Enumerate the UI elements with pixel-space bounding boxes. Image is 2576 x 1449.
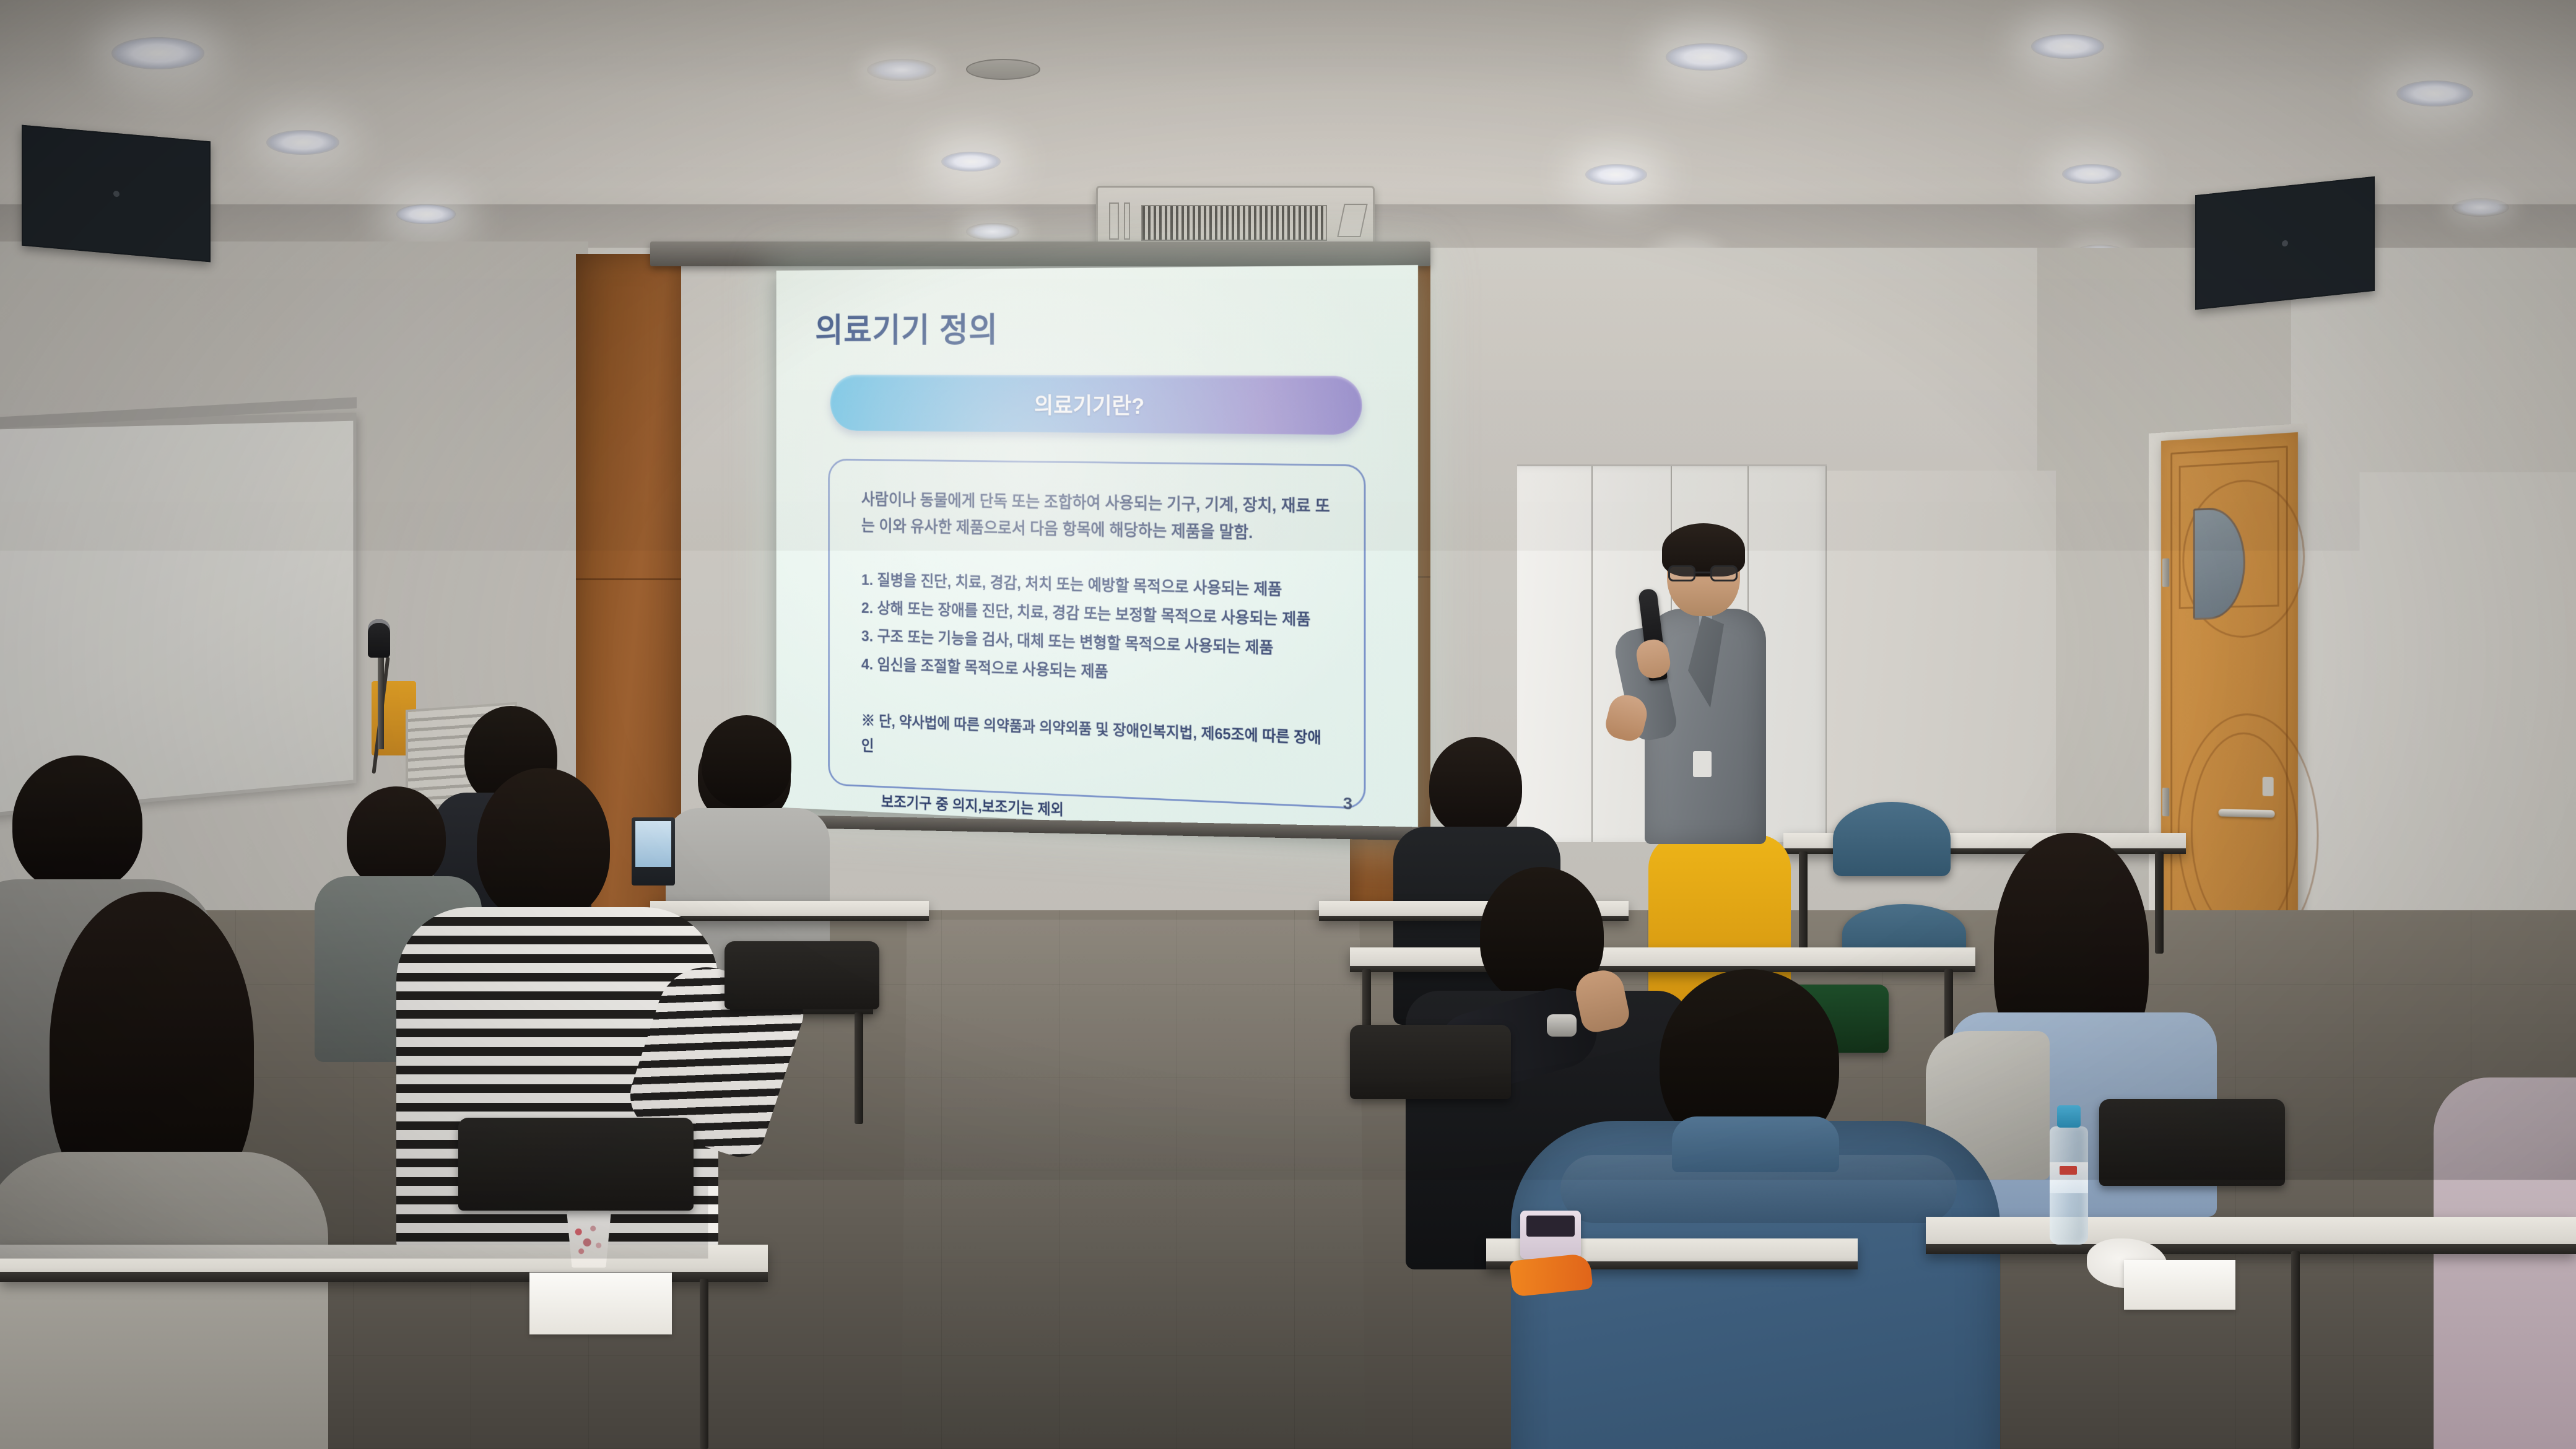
- ceiling-light: [396, 204, 456, 224]
- bottle-cap[interactable]: [2057, 1105, 2081, 1128]
- wall-speaker-right: [2195, 176, 2375, 310]
- phone-screen: [1526, 1216, 1575, 1237]
- presenter: [1616, 529, 1777, 839]
- chair[interactable]: [724, 941, 879, 1009]
- projection-screen: 의료기기 정의 의료기기란? 사람이나 동물에게 단독 또는 조합하여 사용되는…: [777, 265, 1418, 838]
- whiteboard: [0, 412, 357, 817]
- ceiling-light: [266, 130, 339, 155]
- ceiling-light: [2062, 164, 2121, 184]
- slide-title: 의료기기 정의: [815, 301, 1380, 351]
- slide-page-number: 3: [1343, 794, 1352, 814]
- laptop[interactable]: [632, 817, 675, 885]
- speaker-driver: [2282, 240, 2288, 246]
- table: [1926, 1217, 2576, 1254]
- table-leg: [1799, 851, 1808, 960]
- table-edge: [1350, 966, 1975, 972]
- ceiling-light: [2031, 34, 2104, 59]
- ceiling-vent-round: [966, 59, 1040, 80]
- microphone-icon: [368, 619, 390, 658]
- water-bottle[interactable]: [2050, 1105, 2088, 1245]
- screen-valance: [650, 241, 1430, 266]
- head: [347, 786, 446, 889]
- slide-list: 1. 질병을 진단, 치료, 경감, 처치 또는 예방할 목적으로 사용되는 제…: [861, 565, 1333, 694]
- ac-slot: [1109, 202, 1119, 240]
- bottle-logo-icon: [2060, 1166, 2077, 1175]
- flip-phone[interactable]: [1520, 1211, 1581, 1259]
- glasses-bridge: [1695, 572, 1710, 573]
- chair[interactable]: [1833, 802, 1951, 876]
- presenter-name-badge: [1693, 751, 1712, 777]
- slide-body-box: 사람이나 동물에게 단독 또는 조합하여 사용되는 기구, 기계, 장치, 재료…: [828, 459, 1365, 810]
- glasses-lens: [1710, 565, 1738, 581]
- door-handle[interactable]: [2219, 809, 2275, 817]
- slide-paragraph: 사람이나 동물에게 단독 또는 조합하여 사용되는 기구, 기계, 장치, 재료…: [861, 487, 1333, 548]
- glasses-icon: [1668, 565, 1738, 581]
- laptop-screen: [635, 821, 671, 867]
- door-lock-icon[interactable]: [2263, 777, 2274, 796]
- head: [1429, 737, 1522, 836]
- slide-banner-label: 의료기기란?: [1034, 388, 1144, 420]
- ceiling-light: [966, 223, 1019, 240]
- cup-pattern: [572, 1219, 606, 1261]
- wall-speaker-left: [22, 125, 211, 263]
- chair[interactable]: [1350, 1025, 1511, 1099]
- bottle-label: [2050, 1162, 2088, 1193]
- ceiling-light: [1585, 164, 1647, 185]
- table-leg: [2291, 1251, 2300, 1449]
- door-hinge: [2162, 559, 2169, 587]
- table-leg: [855, 1012, 863, 1124]
- table-leg: [2155, 851, 2164, 954]
- head: [477, 768, 610, 923]
- head: [12, 755, 142, 892]
- table-edge: [650, 916, 929, 921]
- cabinet-seam: [1591, 466, 1593, 842]
- paper-cup[interactable]: [567, 1211, 611, 1268]
- ceiling-light: [1666, 43, 1747, 71]
- ceiling-light: [941, 152, 1001, 172]
- torso: [0, 1152, 328, 1449]
- denim-collar: [1672, 1116, 1839, 1172]
- slide-note-line-1: ※ 단, 약사법에 따른 의약품과 의약외품 및 장애인복지법, 제65조에 따…: [861, 708, 1333, 778]
- wristwatch: [1547, 1014, 1577, 1037]
- ceiling-light: [2396, 80, 2473, 107]
- chair[interactable]: [2099, 1099, 2285, 1186]
- head: [702, 715, 791, 808]
- table-edge: [1926, 1244, 2576, 1254]
- ceiling-light: [867, 59, 936, 81]
- ac-slot: [1337, 204, 1367, 237]
- room-door[interactable]: [2161, 432, 2298, 983]
- table-leg: [700, 1279, 708, 1449]
- presenter-lapel: [1688, 615, 1724, 708]
- presentation-slide: 의료기기 정의 의료기기란? 사람이나 동물에게 단독 또는 조합하여 사용되는…: [777, 265, 1418, 838]
- ac-grille: [1141, 205, 1327, 241]
- door-hinge: [2162, 788, 2169, 816]
- table: [650, 901, 929, 921]
- table: [1350, 947, 1975, 972]
- chair[interactable]: [458, 1118, 694, 1211]
- ceiling-light: [111, 37, 204, 69]
- lecture-hall-photo: 의료기기 정의 의료기기란? 사람이나 동물에게 단독 또는 조합하여 사용되는…: [0, 0, 2576, 1449]
- paper-sheet[interactable]: [2124, 1260, 2235, 1310]
- paper-sheet[interactable]: [529, 1273, 672, 1334]
- glasses-lens: [1668, 565, 1695, 581]
- speaker-driver: [113, 190, 120, 197]
- ceiling-light: [2452, 198, 2509, 217]
- torso: [2434, 1077, 2576, 1449]
- slide-banner: 의료기기란?: [830, 375, 1362, 435]
- ac-slot: [1124, 202, 1130, 240]
- back-wall-panel-right: [1827, 471, 2056, 836]
